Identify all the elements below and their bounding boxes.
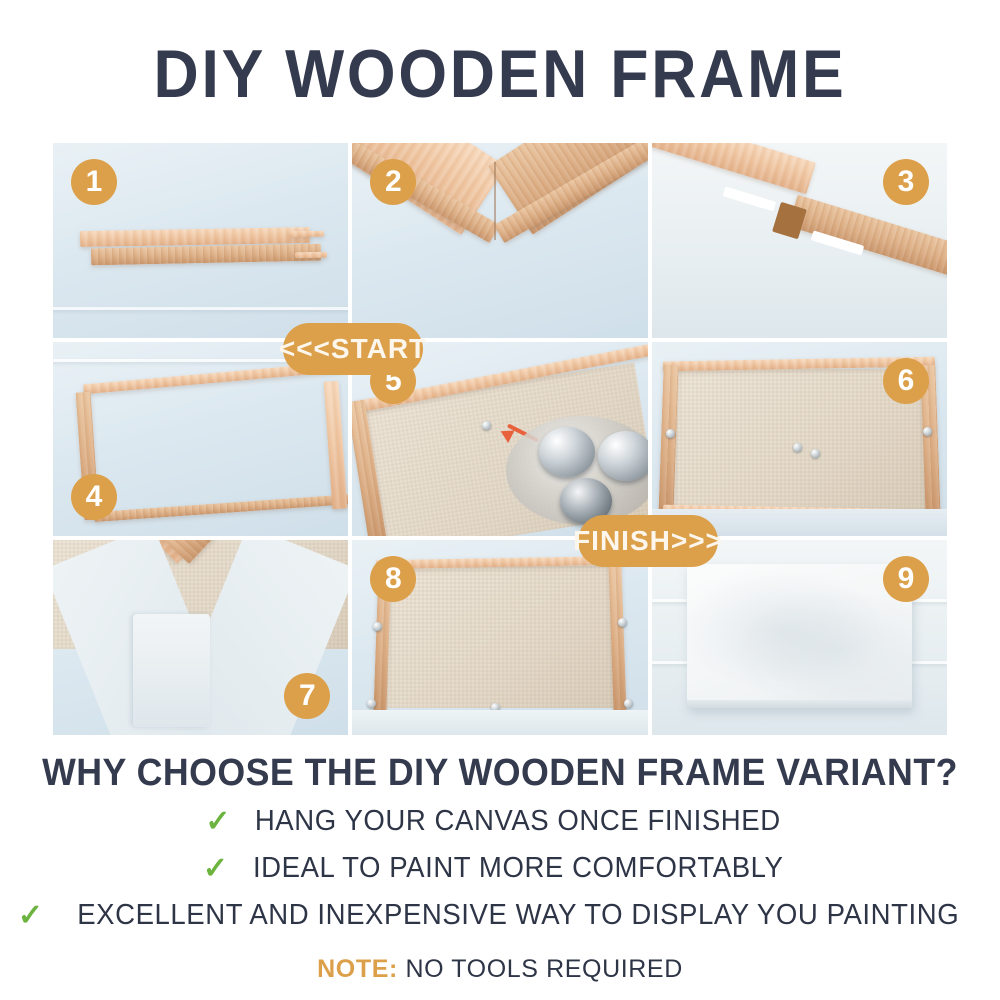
steps-grid: 1 2 3 4 — [53, 143, 947, 735]
step-cell-9[interactable]: 9 — [652, 540, 947, 735]
benefit-item: ✓ IDEAL TO PAINT MORE COMFORTABLY — [0, 852, 1000, 885]
benefit-item: ✓ HANG YOUR CANVAS ONCE FINISHED — [0, 805, 1000, 838]
step-badge-6: 6 — [883, 358, 929, 404]
page-title: DIY WOODEN FRAME — [40, 38, 960, 110]
wood-tenon — [295, 252, 328, 258]
check-icon: ✓ — [18, 901, 44, 931]
check-icon: ✓ — [205, 807, 231, 837]
step-badge-2: 2 — [370, 159, 416, 205]
benefits-list: ✓ HANG YOUR CANVAS ONCE FINISHED ✓ IDEAL… — [0, 805, 1000, 946]
start-badge: <<<START — [283, 323, 423, 375]
wood-tenon — [289, 230, 325, 236]
tack — [367, 699, 376, 708]
table-surface — [352, 710, 647, 735]
benefit-text: EXCELLENT AND INEXPENSIVE WAY TO DISPLAY… — [77, 899, 959, 932]
step-badge-3: 3 — [883, 159, 929, 205]
folded-canvas-flap — [133, 614, 210, 727]
tack — [373, 622, 382, 631]
canvas-edge — [687, 700, 911, 708]
note-label: NOTE: — [317, 955, 398, 983]
step-badge-9: 9 — [883, 556, 929, 602]
step-cell-7[interactable]: 7 — [53, 540, 348, 735]
step-cell-6[interactable]: 6 — [652, 342, 947, 537]
footer-subtitle: WHY CHOOSE THE DIY WOODEN FRAME VARIANT? — [30, 752, 970, 795]
step-cell-8[interactable]: 8 — [352, 540, 647, 735]
step-cell-1[interactable]: 1 — [53, 143, 348, 338]
benefit-item: ✓ EXCELLENT AND INEXPENSIVE WAY TO DISPL… — [0, 899, 1000, 932]
benefit-text: HANG YOUR CANVAS ONCE FINISHED — [255, 805, 781, 838]
check-icon: ✓ — [203, 854, 229, 884]
infographic-page: DIY WOODEN FRAME 1 2 — [0, 0, 1000, 1000]
footer-note: NOTE: NO TOOLS REQUIRED — [0, 955, 1000, 984]
tack — [811, 449, 820, 458]
step-cell-2[interactable]: 2 — [352, 143, 647, 338]
step-cell-3[interactable]: 3 — [652, 143, 947, 338]
joint-seam — [494, 162, 496, 240]
metal-tack — [539, 427, 595, 477]
wall-line — [53, 307, 348, 310]
note-text: NO TOOLS REQUIRED — [405, 955, 682, 983]
benefit-text: IDEAL TO PAINT MORE COMFORTABLY — [253, 852, 784, 885]
finished-canvas — [687, 564, 911, 708]
finish-badge: FINISH>>> — [578, 515, 718, 567]
step-badge-1: 1 — [71, 159, 117, 205]
tack — [624, 699, 633, 708]
step-badge-4: 4 — [71, 474, 117, 520]
canvas-cloth — [382, 566, 618, 708]
step-badge-7: 7 — [284, 673, 330, 719]
